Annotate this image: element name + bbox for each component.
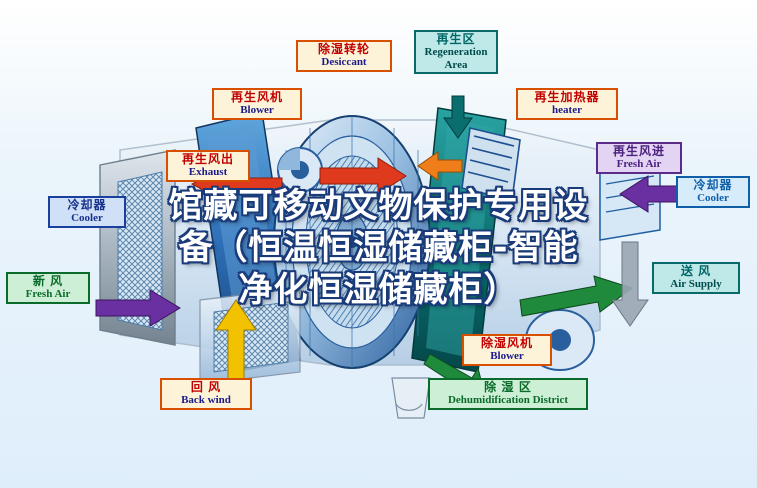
label-dehumidification-district-en: Dehumidification District [433, 394, 583, 406]
label-dehumidification-blower-cn: 除湿风机 [467, 337, 547, 350]
label-back-wind-en: Back wind [165, 394, 247, 406]
label-desiccant-wheel-cn: 除湿转轮 [301, 43, 387, 56]
label-back-wind: 回 风 Back wind [160, 378, 252, 410]
label-regeneration-exhaust-en: Exhaust [171, 166, 245, 178]
label-dehumidification-district: 除 湿 区 Dehumidification District [428, 378, 588, 410]
label-cooler-right-cn: 冷却器 [681, 179, 745, 192]
label-cooler-left-en: Cooler [53, 212, 121, 224]
label-regeneration-exhaust: 再生风出 Exhaust [166, 150, 250, 182]
label-dehumidification-blower: 除湿风机 Blower [462, 334, 552, 366]
label-regeneration-blower-cn: 再生风机 [217, 91, 297, 104]
label-cooler-right-en: Cooler [681, 192, 745, 204]
label-regeneration-heater-en: heater [521, 104, 613, 116]
label-cooler-left-cn: 冷却器 [53, 199, 121, 212]
label-cooler-left: 冷却器 Cooler [48, 196, 126, 228]
label-regeneration-inlet: 再生风进 Fresh Air [596, 142, 682, 174]
label-regeneration-blower: 再生风机 Blower [212, 88, 302, 120]
label-regeneration-heater: 再生加热器 heater [516, 88, 618, 120]
label-back-wind-cn: 回 风 [165, 381, 247, 394]
label-regeneration-area-en: Regeneration Area [419, 46, 493, 71]
label-desiccant-wheel: 除湿转轮 Desiccant [296, 40, 392, 72]
label-air-supply-en: Air Supply [657, 278, 735, 290]
label-dehumidification-district-cn: 除 湿 区 [433, 381, 583, 394]
label-desiccant-wheel-en: Desiccant [301, 56, 387, 68]
label-regeneration-area: 再生区 Regeneration Area [414, 30, 498, 74]
label-regeneration-exhaust-cn: 再生风出 [171, 153, 245, 166]
label-cooler-right: 冷却器 Cooler [676, 176, 750, 208]
dehumidifier-airflow-diagram [0, 0, 757, 488]
label-regeneration-inlet-en: Fresh Air [601, 158, 677, 170]
label-air-supply: 送 风 Air Supply [652, 262, 740, 294]
label-fresh-air: 新 风 Fresh Air [6, 272, 90, 304]
diagram-stage: 除湿转轮 Desiccant 再生风机 Blower 再生区 Regenerat… [0, 0, 757, 488]
label-fresh-air-en: Fresh Air [11, 288, 85, 300]
label-fresh-air-cn: 新 风 [11, 275, 85, 288]
label-air-supply-cn: 送 风 [657, 265, 735, 278]
label-regeneration-heater-cn: 再生加热器 [521, 91, 613, 104]
label-dehumidification-blower-en: Blower [467, 350, 547, 362]
label-regeneration-inlet-cn: 再生风进 [601, 145, 677, 158]
label-regeneration-area-cn: 再生区 [419, 33, 493, 46]
label-regeneration-blower-en: Blower [217, 104, 297, 116]
